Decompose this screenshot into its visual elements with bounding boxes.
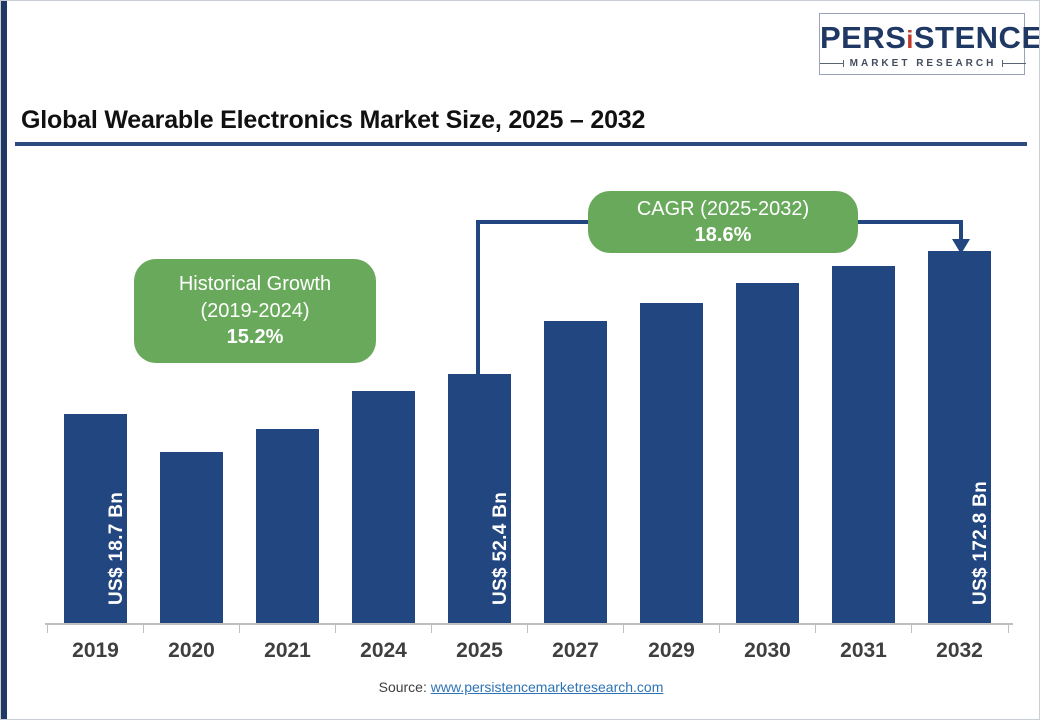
x-tick-2030	[719, 623, 720, 633]
x-tick-2021	[239, 623, 240, 633]
source-prefix: Source:	[379, 679, 431, 695]
callout-historical-line1: Historical Growth	[179, 271, 331, 297]
x-tick-2032	[911, 623, 912, 633]
callout-historical-line2: (2019-2024)	[201, 298, 310, 324]
callout-historical-growth: Historical Growth (2019-2024) 15.2%	[134, 259, 376, 363]
callout-cagr-line1: CAGR (2025-2032)	[637, 196, 809, 222]
bar-2020	[160, 452, 223, 623]
bar-chart: US$ 18.7 BnUS$ 52.4 BnUS$ 172.8 Bn 20192…	[1, 1, 1040, 720]
x-axis-label-2020: 2020	[144, 639, 240, 663]
bar-2024	[352, 391, 415, 623]
bar-2030	[736, 283, 799, 623]
x-axis-label-2029: 2029	[624, 639, 720, 663]
callout-cagr: CAGR (2025-2032) 18.6%	[588, 191, 858, 253]
bar-value-label-2032: US$ 172.8 Bn	[970, 481, 992, 605]
x-tick-2024	[335, 623, 336, 633]
x-axis-label-2024: 2024	[336, 639, 432, 663]
bar-2027	[544, 321, 607, 623]
bar-2021	[256, 429, 319, 623]
x-tick-end	[1008, 623, 1009, 633]
x-axis-label-2025: 2025	[432, 639, 528, 663]
cagr-arrow-icon	[952, 239, 970, 254]
x-tick-2025	[431, 623, 432, 633]
cagr-connector-vertical	[476, 220, 480, 376]
cagr-connector-horizontal-right	[853, 220, 963, 224]
x-tick-2019	[47, 623, 48, 633]
bar-2029	[640, 303, 703, 623]
cagr-connector-horizontal-left	[476, 220, 596, 224]
x-axis-line	[45, 623, 1013, 625]
source-link[interactable]: www.persistencemarketresearch.com	[431, 679, 664, 695]
x-axis-label-2027: 2027	[528, 639, 624, 663]
x-tick-2027	[527, 623, 528, 633]
x-axis-label-2031: 2031	[816, 639, 912, 663]
bar-2031	[832, 266, 895, 623]
x-axis-label-2019: 2019	[48, 639, 144, 663]
x-axis-label-2021: 2021	[240, 639, 336, 663]
x-axis-label-2030: 2030	[720, 639, 816, 663]
x-tick-2020	[143, 623, 144, 633]
callout-cagr-value: 18.6%	[695, 222, 752, 248]
infographic-page: PERSiSTENCE MARKET RESEARCH Global Weara…	[0, 0, 1040, 720]
bar-value-label-2019: US$ 18.7 Bn	[106, 492, 128, 605]
source-note: Source: www.persistencemarketresearch.co…	[1, 679, 1040, 695]
bar-value-label-2025: US$ 52.4 Bn	[490, 492, 512, 605]
x-tick-2029	[623, 623, 624, 633]
x-axis-label-2032: 2032	[912, 639, 1008, 663]
callout-historical-value: 15.2%	[227, 324, 284, 350]
x-tick-2031	[815, 623, 816, 633]
